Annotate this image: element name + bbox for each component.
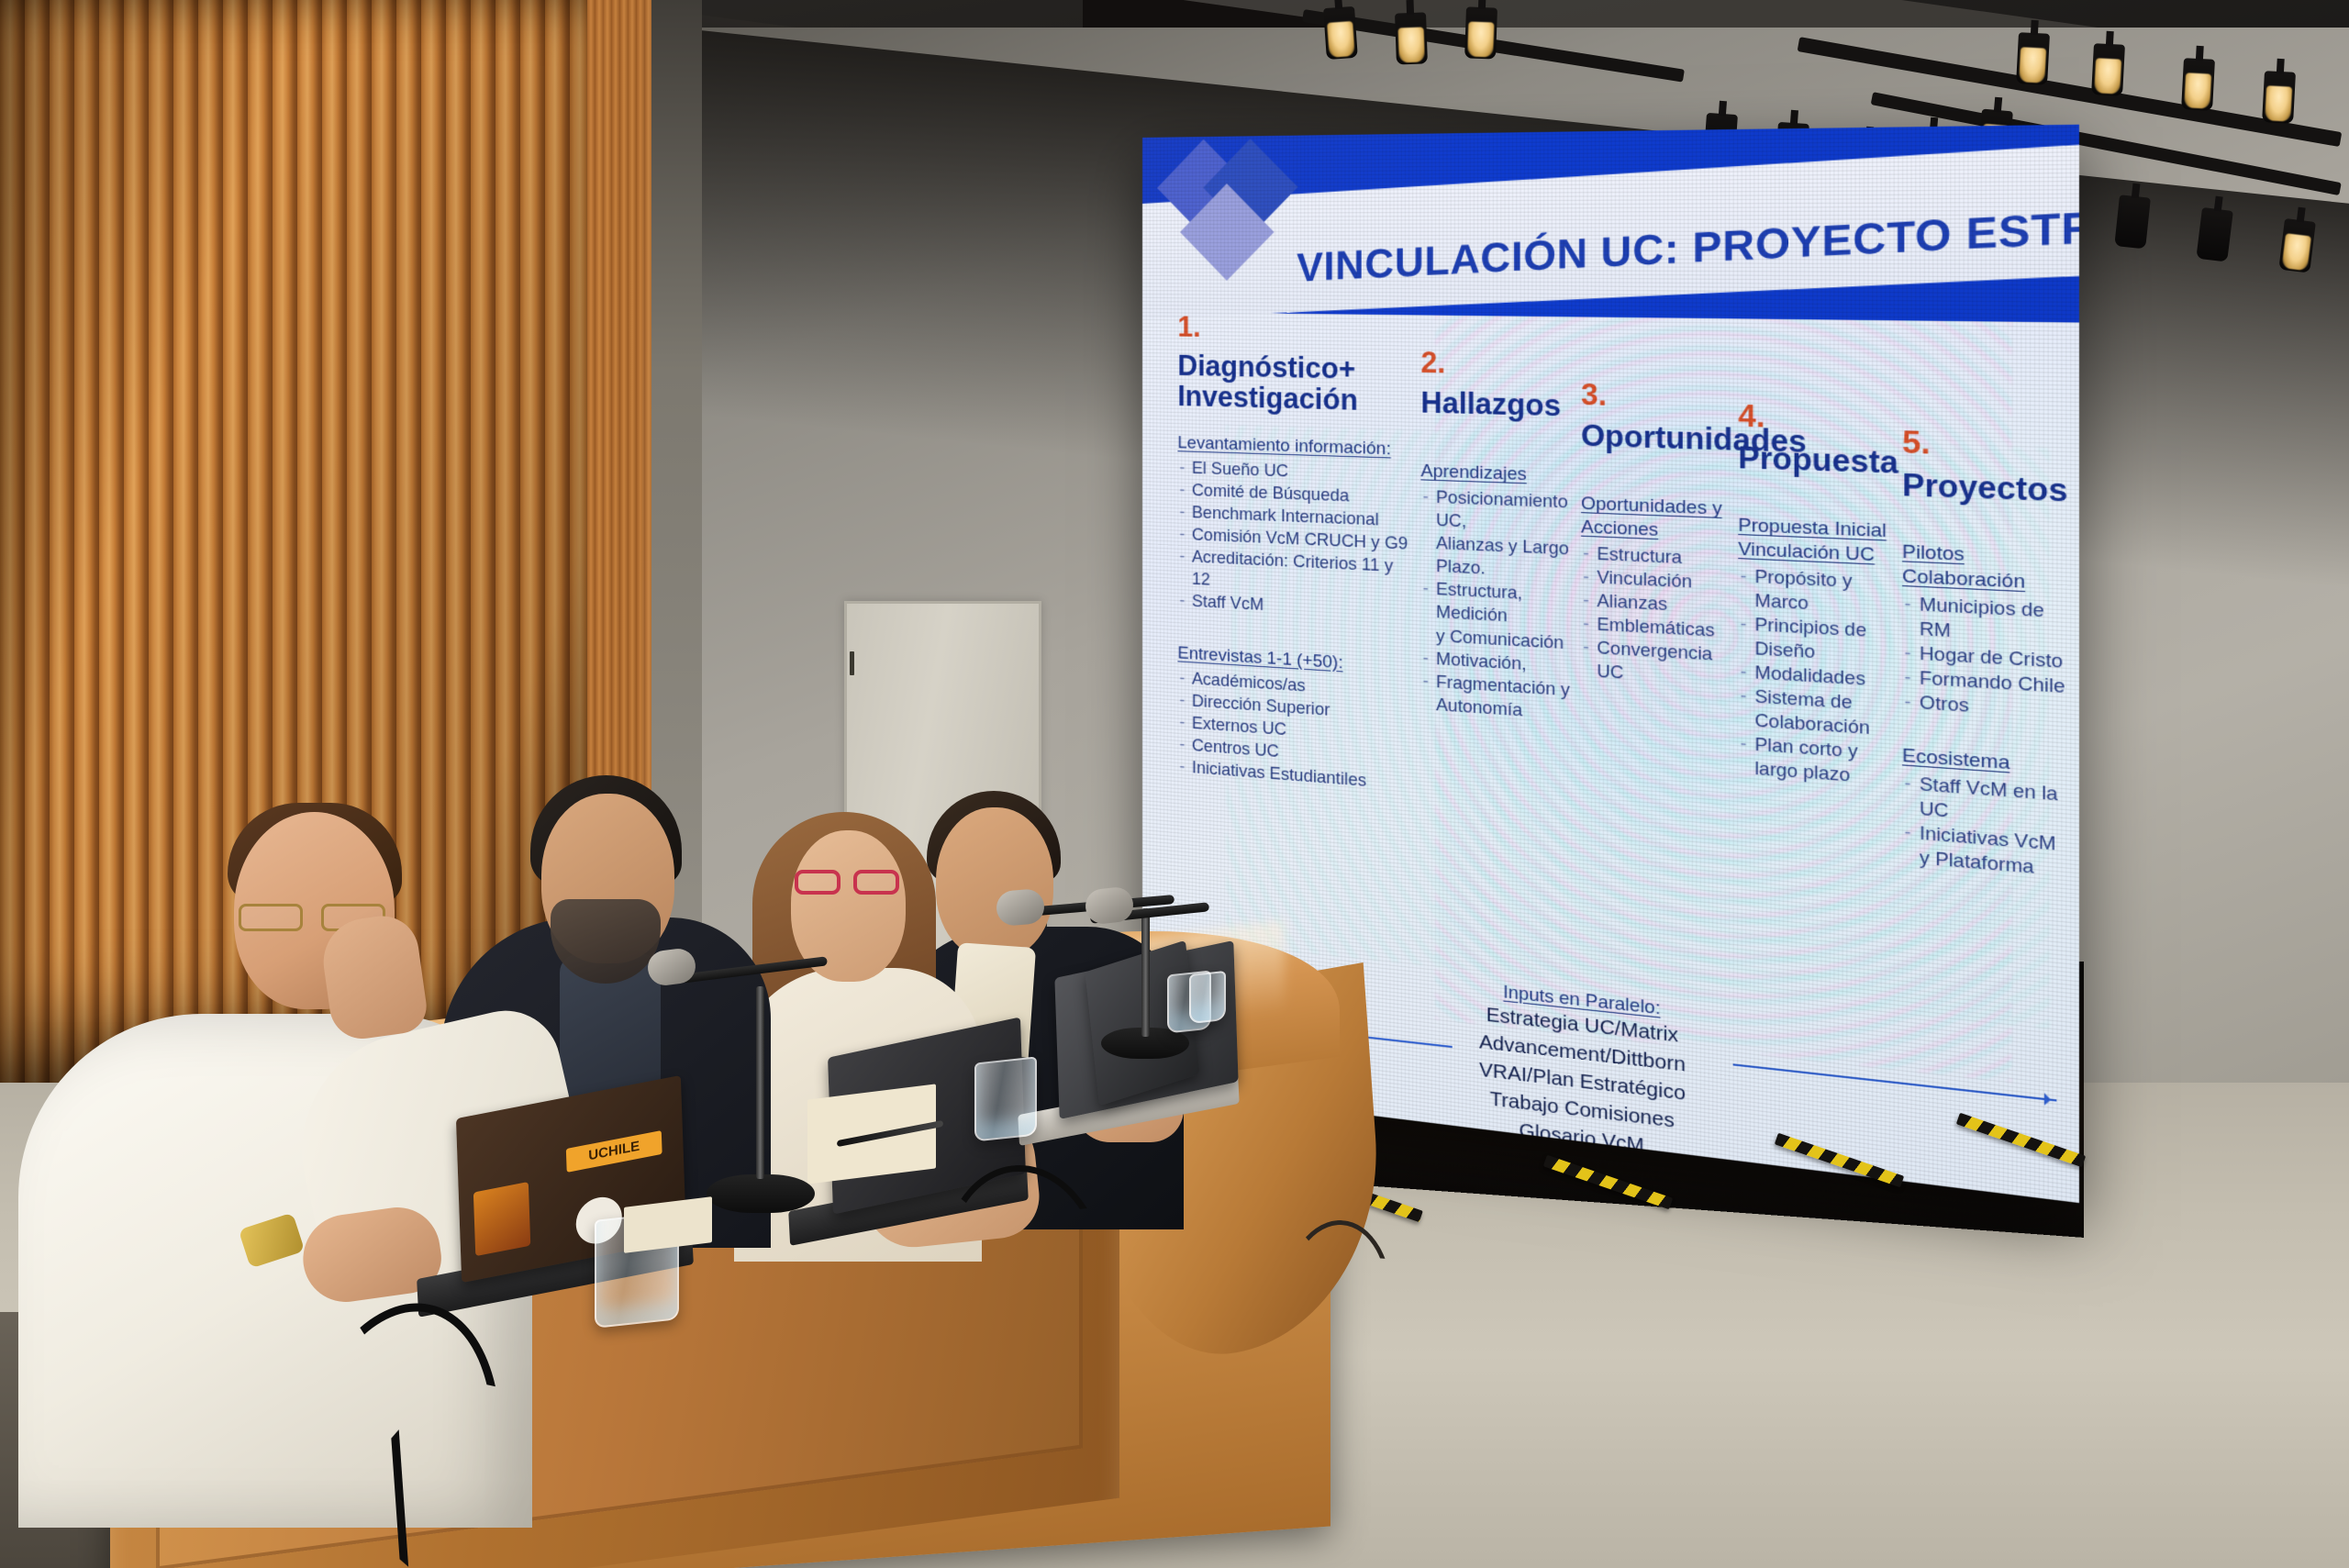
track-light-icon [2262, 71, 2296, 124]
door-hinge [850, 651, 854, 675]
column-number: 1. [1177, 312, 1414, 344]
column-heading: Diagnóstico+ Investigación [1177, 350, 1414, 418]
slide-column-1: 1. Diagnóstico+ Investigación Levantamie… [1177, 312, 1414, 795]
track-light-icon [2278, 218, 2316, 273]
column-group: Pilotos Colaboración Municipios de RM Ho… [1902, 541, 2068, 725]
group-list: Estructura Vinculación Alianzas Emblemát… [1581, 541, 1743, 692]
red-eyeglasses-icon [795, 870, 903, 895]
list-item: Municipios de RM [1902, 592, 2068, 650]
column-group: Levantamiento información: El Sueño UC C… [1177, 432, 1414, 624]
water-glass[interactable] [974, 1056, 1037, 1141]
list-item: Propósito y Marco [1738, 564, 1897, 620]
list-item: Posicionamiento UC, [1420, 485, 1575, 538]
column-heading: Oportunidades [1581, 419, 1743, 457]
power-cable [344, 1429, 408, 1568]
column-number: 3. [1581, 379, 1743, 413]
laptop-sticker-label: UCHILE [566, 1130, 662, 1173]
uc-diamonds-logo-icon [1152, 136, 1296, 323]
column-group: Aprendizajes Posicionamiento UC, Alianza… [1420, 461, 1575, 725]
column-number: 4. [1738, 400, 1897, 435]
column-group: Propuesta Inicial Vinculación UC Propósi… [1738, 515, 1897, 791]
track-light-icon [1395, 12, 1428, 64]
laptop-sticker [473, 1182, 530, 1256]
group-title: Oportunidades y Acciones [1581, 493, 1743, 546]
list-item: Plan corto y largo plazo [1738, 731, 1897, 791]
slide-column-5: 5. Proyectos Pilotos Colaboración Munici… [1902, 427, 2068, 883]
column-heading: Propuesta [1738, 441, 1897, 480]
column-group: Ecosistema Staff VcM en la UC Iniciativa… [1902, 744, 2068, 882]
column-group: Entrevistas 1-1 (+50): Académicos/as Dir… [1177, 642, 1414, 795]
track-light-icon [2196, 207, 2233, 262]
column-number: 2. [1420, 348, 1575, 381]
water-glass[interactable] [1189, 971, 1226, 1024]
group-title: Aprendizajes [1420, 461, 1575, 489]
track-light-icon [2114, 195, 2151, 249]
track-light-icon [1323, 6, 1358, 60]
column-heading-line2: Investigación [1177, 380, 1357, 417]
group-list: Staff VcM en la UC Iniciativas VcM y Pla… [1902, 771, 2068, 883]
group-list: El Sueño UC Comité de Búsqueda Benchmark… [1177, 456, 1414, 624]
slide-column-4: 4. Propuesta Propuesta Inicial Vinculaci… [1738, 400, 1897, 791]
list-item: Estructura, Medición [1420, 577, 1575, 631]
group-list: Propósito y Marco Principios de Diseño M… [1738, 564, 1897, 792]
column-heading: Proyectos [1902, 468, 2068, 507]
group-list: Posicionamiento UC, Alianzas y Largo Pla… [1420, 485, 1575, 725]
group-list: Municipios de RM Hogar de Cristo Formand… [1902, 592, 2068, 725]
track-light-icon [2181, 58, 2215, 111]
list-item: Convergencia UC [1581, 635, 1743, 692]
group-title: Propuesta Inicial Vinculación UC [1738, 515, 1897, 569]
microphone-stand [1141, 908, 1150, 1037]
column-number: 5. [1902, 427, 2068, 463]
conference-room-scene: VINCULACIÓN UC: PROYECTO ESTRATEGIA 1. D… [0, 0, 2349, 1568]
microphone-stand [756, 986, 764, 1179]
track-light-icon [2016, 32, 2050, 85]
track-light-icon [1464, 6, 1497, 59]
column-heading: Hallazgos [1420, 386, 1575, 422]
column-group: Oportunidades y Acciones Estructura Vinc… [1581, 493, 1743, 692]
group-title: Pilotos Colaboración [1902, 541, 2068, 597]
group-list: Académicos/as Dirección Superior Externo… [1177, 666, 1414, 795]
slide-column-2: 2. Hallazgos Aprendizajes Posicionamient… [1420, 348, 1575, 726]
microphone-base [707, 1174, 815, 1213]
slide-column-3: 3. Oportunidades Oportunidades y Accione… [1581, 379, 1743, 692]
track-light-icon [2091, 43, 2125, 96]
